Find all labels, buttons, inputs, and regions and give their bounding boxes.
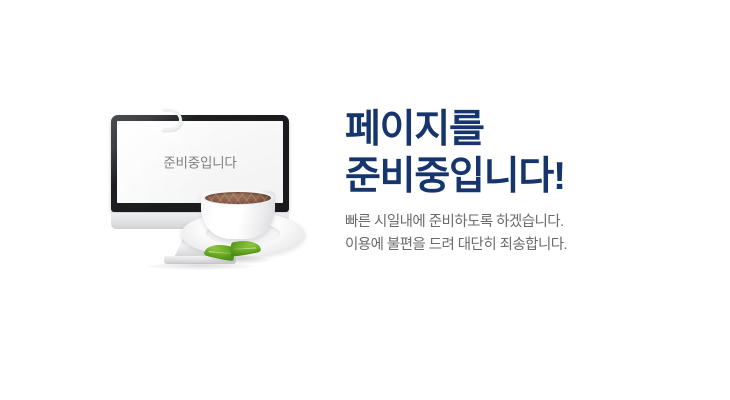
subtext-line-2: 이용에 불편을 드려 대단히 죄송합니다. [345,234,695,257]
coffee-cup [201,191,275,239]
headline-line-1: 페이지를 [345,106,695,153]
under-construction-page: 준비중입니다 페이지를 준비중입니다! 빠른 시일내에 준비하도록 하겠습니다.… [0,0,730,400]
monitor-shadow [147,263,255,270]
under-construction-illustration: 준비중입니다 [95,100,340,285]
subtext-line-1: 빠른 시일내에 준비하도록 하겠습니다. [345,211,695,234]
subtext-block: 빠른 시일내에 준비하도록 하겠습니다. 이용에 불편을 드려 대단히 죄송합니… [345,211,695,257]
message-block: 페이지를 준비중입니다! 빠른 시일내에 준비하도록 하겠습니다. 이용에 불편… [345,106,695,257]
monitor-screen-text: 준비중입니다 [117,152,283,172]
coffee-surface [205,192,271,204]
headline-line-2: 준비중입니다! [345,153,695,200]
